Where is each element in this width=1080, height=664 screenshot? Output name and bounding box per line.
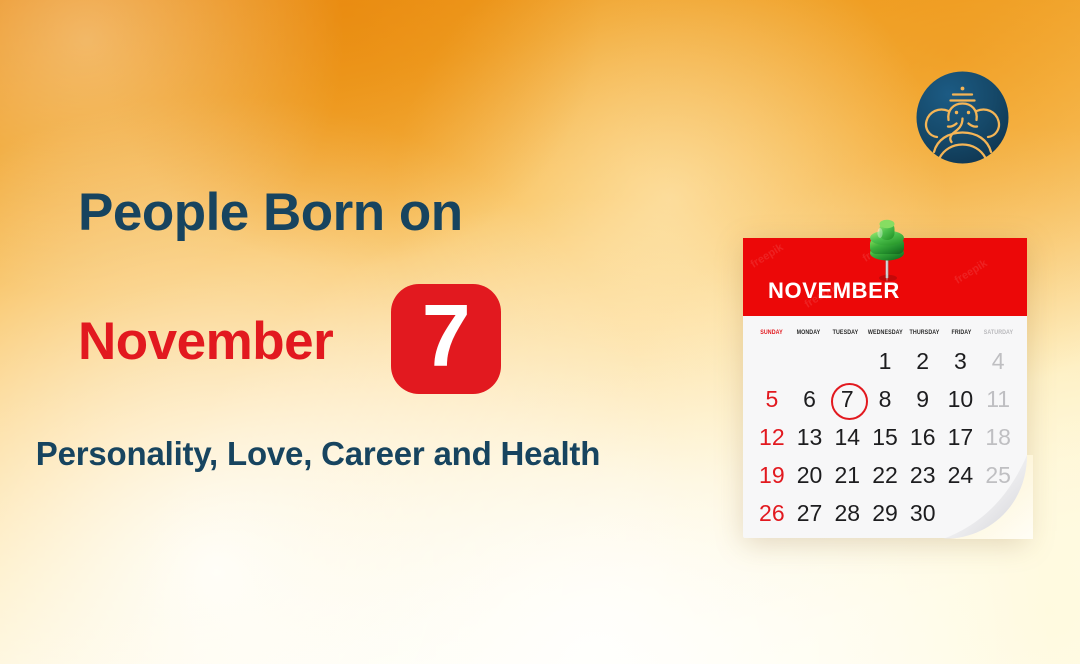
calendar-day-24[interactable]: 24: [942, 462, 980, 489]
article-hero-banner: People Born on November 7 Personality, L…: [0, 0, 1080, 664]
calendar-day-8[interactable]: 8: [866, 386, 904, 413]
calendar-day-2[interactable]: 2: [904, 348, 942, 375]
calendar-weekday-wednesday: WEDNESDAY: [868, 329, 903, 336]
calendar-weekday-tuesday: TUESDAY: [830, 329, 860, 336]
calendar-day-10[interactable]: 10: [942, 386, 980, 413]
calendar-day-21[interactable]: 21: [828, 462, 866, 489]
calendar-week-row: 567891011: [753, 380, 1017, 418]
ganesha-logo-icon[interactable]: [915, 70, 1010, 165]
calendar-day-17[interactable]: 17: [942, 424, 980, 451]
calendar-grid: SUNDAYMONDAYTUESDAYWEDNESDAYTHURSDAYFRID…: [743, 316, 1027, 538]
calendar-day-9[interactable]: 9: [904, 386, 942, 413]
calendar-day-4[interactable]: 4: [979, 348, 1017, 375]
calendar-day-15[interactable]: 15: [866, 424, 904, 451]
calendar-day-27[interactable]: 27: [791, 500, 829, 527]
watermark: freepik: [953, 257, 990, 286]
month-name: November: [78, 314, 333, 369]
calendar-day-20[interactable]: 20: [791, 462, 829, 489]
calendar-day-14[interactable]: 14: [828, 424, 866, 451]
calendar-day-16[interactable]: 16: [904, 424, 942, 451]
pushpin-icon: [855, 216, 919, 288]
calendar-weekday-header-row: SUNDAYMONDAYTUESDAYWEDNESDAYTHURSDAYFRID…: [753, 322, 1017, 342]
day-number-badge: 7: [391, 284, 501, 394]
calendar-weekday-saturday: SATURDAY: [983, 329, 1013, 336]
watermark: freepik: [749, 241, 786, 270]
calendar-week-row: 19202122232425: [753, 456, 1017, 494]
calendar-weekday-monday: MONDAY: [793, 329, 823, 336]
month-day-row: November 7: [78, 290, 501, 394]
calendar-day-23[interactable]: 23: [904, 462, 942, 489]
page-title: People Born on: [78, 185, 463, 240]
calendar-weeks: 1234567891011121314151617181920212223242…: [753, 342, 1017, 532]
calendar-weekday-sunday: SUNDAY: [756, 329, 786, 336]
calendar-day-7[interactable]: 7: [828, 386, 866, 413]
calendar-week-row: 1234: [753, 342, 1017, 380]
calendar-day-18[interactable]: 18: [979, 424, 1017, 451]
calendar-day-12[interactable]: 12: [753, 424, 791, 451]
calendar-day-25[interactable]: 25: [979, 462, 1017, 489]
calendar-day-6[interactable]: 6: [791, 386, 829, 413]
page-subtitle: Personality, Love, Career and Health: [0, 432, 636, 476]
calendar-day-5[interactable]: 5: [753, 386, 791, 413]
calendar-day-28[interactable]: 28: [828, 500, 866, 527]
calendar-day-22[interactable]: 22: [866, 462, 904, 489]
calendar-week-row: 2627282930: [753, 494, 1017, 532]
calendar-day-19[interactable]: 19: [753, 462, 791, 489]
calendar-weekday-friday: FRIDAY: [947, 329, 977, 336]
day-number: 7: [422, 292, 471, 380]
calendar-day-13[interactable]: 13: [791, 424, 829, 451]
calendar-day-1[interactable]: 1: [866, 348, 904, 375]
calendar-day-30[interactable]: 30: [904, 500, 942, 527]
calendar-day-29[interactable]: 29: [866, 500, 904, 527]
calendar-day-3[interactable]: 3: [942, 348, 980, 375]
calendar-week-row: 12131415161718: [753, 418, 1017, 456]
calendar-weekday-thursday: THURSDAY: [910, 329, 940, 336]
calendar-day-11[interactable]: 11: [979, 386, 1017, 413]
calendar-day-26[interactable]: 26: [753, 500, 791, 527]
